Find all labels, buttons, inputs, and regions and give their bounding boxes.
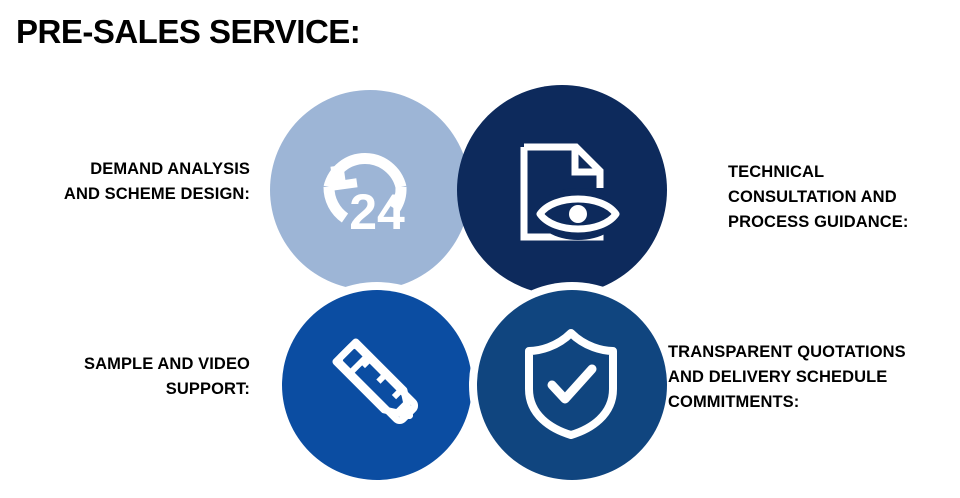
four-circle-diagram: 24 <box>0 0 960 498</box>
label-demand-analysis-line2: AND SCHEME DESIGN: <box>10 182 250 207</box>
label-technical-line3: PROCESS GUIDANCE: <box>728 210 956 235</box>
label-technical-line1: TECHNICAL <box>728 160 956 185</box>
circle-sample-video-support[interactable] <box>282 290 472 480</box>
label-technical-consultation: TECHNICAL CONSULTATION AND PROCESS GUIDA… <box>728 160 956 235</box>
label-transparent-line3: COMMITMENTS: <box>668 390 960 415</box>
label-transparent-line1: TRANSPARENT QUOTATIONS <box>668 340 960 365</box>
label-technical-line2: CONSULTATION AND <box>728 185 956 210</box>
circle-sample-video-support-shape[interactable] <box>282 290 472 480</box>
diagram-svg: 24 <box>0 0 960 498</box>
clock-24-icon-text: 24 <box>349 184 405 240</box>
label-demand-analysis: DEMAND ANALYSIS AND SCHEME DESIGN: <box>10 157 250 207</box>
label-sample-video-line1: SAMPLE AND VIDEO <box>10 352 250 377</box>
label-sample-video-line2: SUPPORT: <box>10 377 250 402</box>
label-transparent-quotations: TRANSPARENT QUOTATIONS AND DELIVERY SCHE… <box>668 340 960 415</box>
label-demand-analysis-line1: DEMAND ANALYSIS <box>10 157 250 182</box>
label-transparent-line2: AND DELIVERY SCHEDULE <box>668 365 960 390</box>
label-sample-video-support: SAMPLE AND VIDEO SUPPORT: <box>10 352 250 402</box>
